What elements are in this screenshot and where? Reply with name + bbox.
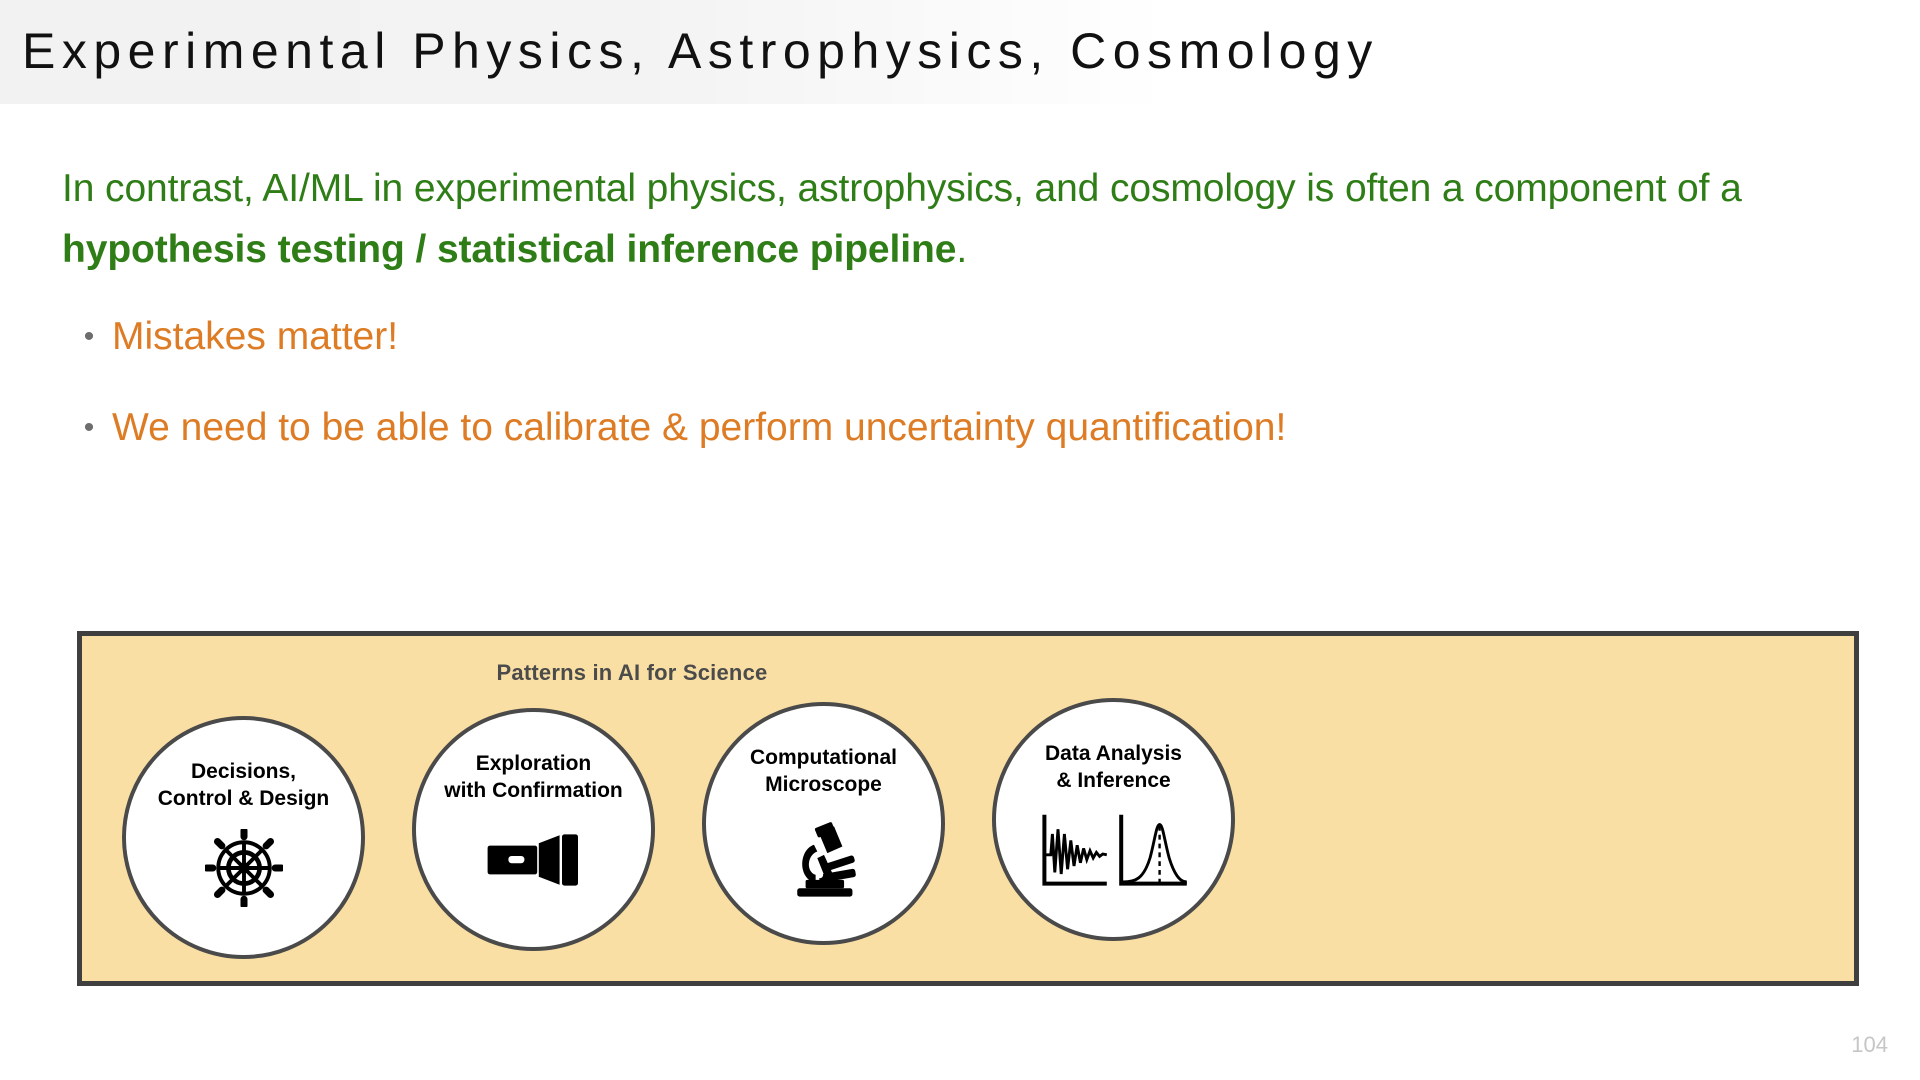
panel-title: Patterns in AI for Science [82,660,1182,686]
lede-bold-phrase: hypothesis testing / statistical inferen… [62,228,956,271]
pattern-circle-label: Computational Microscope [704,744,944,798]
lede-paragraph: In contrast, AI/ML in experimental physi… [62,158,1902,280]
pattern-circle-label: Exploration with Confirmation [414,750,654,804]
lede-prefix: In contrast, AI/ML in experimental physi… [62,167,1742,210]
pattern-circle-label: Decisions, Control & Design [124,758,364,812]
pattern-circle-exploration-with-confirmation: Exploration with Confirmation [412,708,655,951]
list-item-label: Mistakes matter! [112,311,398,363]
pattern-circle-label: Data Analysis & Inference [994,740,1234,794]
microscope-icon [782,804,866,904]
list-item-label: We need to be able to calibrate & perfor… [112,402,1286,454]
bullet-dot-icon: • [66,402,112,454]
pattern-circle-track: Decisions, Control & Design [122,698,1235,959]
page-number: 104 [1851,1032,1888,1058]
list-item: • Mistakes matter! [66,311,398,363]
flashlight-icon [486,810,582,910]
page-title: Experimental Physics, Astrophysics, Cosm… [22,20,1379,82]
pattern-circle-decisions-control-design: Decisions, Control & Design [122,716,365,959]
bullet-dot-icon: • [66,311,112,363]
pattern-circle-data-analysis-inference: Data Analysis & Inference [992,698,1235,941]
list-item: • We need to be able to calibrate & perf… [66,402,1286,454]
ship-wheel-icon [205,818,283,918]
lede-suffix: . [956,228,967,271]
patterns-in-ai-for-science-panel: Patterns in AI for Science Decisions, Co… [77,631,1859,986]
pattern-circle-computational-microscope: Computational Microscope [702,702,945,945]
plots-waveform-gaussian-icon [1038,800,1190,900]
